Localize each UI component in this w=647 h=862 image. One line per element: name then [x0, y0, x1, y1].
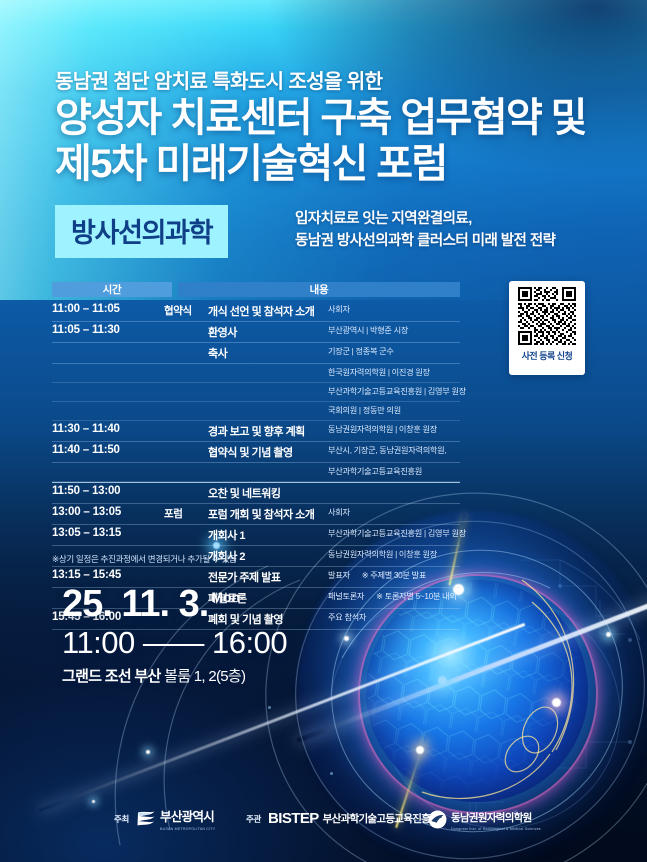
schedule-row: 11:40 – 11:50협약식 및 기념 촬영부산시, 기장군, 동남권원자력… [52, 442, 460, 463]
organizer-label: 주관 [246, 813, 261, 825]
schedule-cell-detail [328, 484, 460, 486]
schedule-cell-time [52, 384, 164, 385]
schedule-header-row: 시간 내용 [52, 282, 460, 297]
subtitle-line-2: 동남권 방사선의과학 클러스터 미래 발전 전략 [295, 230, 555, 252]
event-day-of-week: Mon [211, 589, 240, 605]
schedule-cell-detail: 사회자 [328, 302, 460, 316]
kicker-text: 동남권 첨단 암치료 특화도시 조성을 위한 [55, 65, 382, 94]
schedule-cell-detail: 부산과학기술고등교육진흥원 | 김영부 원장 [328, 384, 466, 398]
schedule-cell-category [164, 422, 208, 423]
schedule-cell-item: 포럼 개회 및 참석자 소개 [208, 505, 328, 522]
poster-root: 동남권 첨단 암치료 특화도시 조성을 위한 양성자 치료센터 구축 업무협약 … [0, 0, 647, 862]
title-line-2: 제5차 미래기술혁신 포럼 [55, 141, 586, 187]
footer-logos: 주최 부산광역시 BUSAN METROPOLITAN CITY 주관 BIST… [0, 800, 647, 842]
schedule-detail-text: 패널토론자 [328, 592, 364, 601]
schedule-row: 13:00 – 13:05포럼포럼 개회 및 참석자 소개사회자 [52, 504, 460, 525]
schedule-cell-category [164, 443, 208, 444]
qr-registration-card[interactable]: 사전 등록 신청 [509, 281, 585, 375]
schedule-cell-item [208, 384, 328, 385]
busan-city-logo-icon [136, 810, 156, 827]
host-name: 부산광역시 [160, 810, 214, 824]
schedule-cell-item: 환영사 [208, 323, 328, 340]
schedule-cell-item: 개회사 1 [208, 526, 328, 543]
event-venue: 그랜드 조선 부산 볼룸 1, 2(5층) [62, 665, 245, 686]
topic-badge: 방사선의과학 [55, 205, 228, 258]
schedule-detail-text: 부산과학기술고등교육진흥원 | 김영부 원장 [328, 387, 466, 396]
schedule-detail-text: 국회의원 | 정동만 의원 [328, 406, 401, 415]
particle-dot [268, 706, 271, 709]
event-time-range: 11:00 —— 16:00 [62, 625, 287, 661]
schedule-cell-detail: 발표자※ 주제별 30분 발표 [328, 568, 460, 582]
schedule-row: 부산과학기술고등교육진흥원 [52, 463, 460, 482]
schedule-cell-detail: 국회의원 | 정동만 의원 [328, 403, 460, 417]
schedule-cell-time: 13:05 – 13:15 [52, 526, 164, 539]
schedule-cell-category [164, 323, 208, 324]
schedule-cell-detail: 부산광역시 | 박형준 시장 [328, 323, 460, 337]
footer-partner: 동남권원자력의학원 Dongnam Inst. of Radiological … [428, 808, 541, 831]
schedule-detail-text: 사회자 [328, 508, 350, 517]
subtitle-row: 방사선의과학 입자치료로 잇는 지역완결의료, 동남권 방사선의과학 클러스터 … [55, 205, 595, 253]
schedule-cell-item [208, 464, 328, 465]
schedule-cell-detail: 부산과학기술고등교육진흥원 | 김영부 원장 [328, 526, 466, 540]
schedule-cell-time [52, 403, 164, 404]
schedule-cell-category [164, 384, 208, 385]
schedule-cell-detail: 패널토론자※ 토론자별 5~10분 내외 [328, 589, 460, 603]
schedule-cell-time: 13:00 – 13:05 [52, 505, 164, 518]
schedule-cell-detail: 주요 참석자 [328, 610, 460, 624]
qr-code-icon[interactable] [518, 287, 576, 345]
schedule-cell-category: 협약식 [164, 302, 208, 318]
schedule-detail-text: 동남권원자력의학원 | 이창훈 원장 [328, 425, 437, 434]
schedule-detail-text: 부산과학기술고등교육진흥원 | 김영부 원장 [328, 529, 466, 538]
footer-host: 주최 부산광역시 BUSAN METROPOLITAN CITY [114, 806, 215, 831]
schedule-row: 13:05 – 13:15개회사 1부산과학기술고등교육진흥원 | 김영부 원장 [52, 525, 460, 546]
schedule-cell-item: 오찬 및 네트워킹 [208, 484, 328, 501]
schedule-cell-time [52, 365, 164, 366]
subtitle-line-1: 입자치료로 잇는 지역완결의료, [295, 208, 555, 230]
bistep-logo-text: BISTEP [268, 810, 319, 827]
schedule-detail-text: 부산과학기술고등교육진흥원 [328, 467, 422, 476]
schedule-row: 한국원자력의학원 | 이진경 원장 [52, 364, 460, 383]
schedule-header-content: 내용 [178, 282, 460, 297]
schedule-detail-text: 기장군 | 정종복 군수 [328, 347, 394, 356]
schedule-detail-text: 발표자 [328, 571, 350, 580]
schedule-cell-item: 축사 [208, 344, 328, 361]
footer-organizer: 주관 BISTEP 부산과학기술고등교육진흥원 [246, 810, 439, 827]
schedule-cell-category [164, 403, 208, 404]
schedule-row: 축사기장군 | 정종복 군수 [52, 343, 460, 364]
schedule-footnote: ※상기 일정은 추진과정에서 변경되거나 추가될 수 있음 [52, 553, 237, 565]
qr-caption: 사전 등록 신청 [522, 349, 573, 362]
dirams-logo-icon [428, 810, 447, 829]
schedule-cell-time: 11:00 – 11:05 [52, 302, 164, 315]
schedule-cell-category [164, 464, 208, 465]
schedule-cell-time: 11:50 – 13:00 [52, 484, 164, 497]
schedule-cell-time [52, 547, 164, 548]
schedule-header-time: 시간 [52, 282, 172, 297]
schedule-cell-category [164, 365, 208, 366]
host-name-en: BUSAN METROPOLITAN CITY [160, 827, 215, 831]
schedule-cell-category [164, 568, 208, 569]
schedule-cell-item: 협약식 및 기념 촬영 [208, 443, 328, 460]
schedule-cell-item [208, 403, 328, 404]
schedule-row: 11:50 – 13:00오찬 및 네트워킹 [52, 482, 460, 504]
schedule-cell-time: 11:30 – 11:40 [52, 422, 164, 435]
schedule-cell-time [52, 464, 164, 465]
schedule-detail-text: 사회자 [328, 305, 350, 314]
schedule-detail-text: 동남권원자력의학원 | 이창훈 원장 [328, 550, 437, 559]
partner-name-en: Dongnam Inst. of Radiological & Medical … [451, 827, 541, 831]
title-line-1: 양성자 치료센터 구축 업무협약 및 [55, 95, 586, 141]
schedule-cell-category [164, 344, 208, 345]
schedule-detail-note: ※ 토론자별 5~10분 내외 [376, 592, 456, 601]
schedule-cell-category [164, 526, 208, 527]
schedule-cell-category [164, 484, 208, 485]
venue-sub: 볼룸 1, 2(5층) [164, 668, 245, 685]
partner-name: 동남권원자력의학원 [451, 812, 532, 824]
schedule-row: 11:05 – 11:30환영사부산광역시 | 박형준 시장 [52, 322, 460, 343]
schedule-cell-detail: 기장군 | 정종복 군수 [328, 344, 460, 358]
schedule-cell-detail: 한국원자력의학원 | 이진경 원장 [328, 365, 460, 379]
schedule-cell-time [52, 344, 164, 345]
organizer-name: 부산과학기술고등교육진흥원 [323, 811, 439, 826]
particle-dot [606, 632, 611, 637]
schedule-table: 시간 내용 11:00 – 11:05협약식개식 선언 및 참석자 소개사회자1… [52, 282, 460, 630]
schedule-cell-detail: 동남권원자력의학원 | 이창훈 원장 [328, 547, 460, 561]
schedule-detail-text: 주요 참석자 [328, 613, 366, 622]
event-date: 25. 11. 3.Mon [62, 583, 240, 626]
particle-dot [330, 772, 333, 775]
schedule-cell-detail: 부산과학기술고등교육진흥원 [328, 464, 460, 478]
particle-dot [146, 750, 150, 754]
event-date-value: 25. 11. 3. [62, 583, 208, 625]
schedule-row: 11:30 – 11:40경과 보고 및 향후 계획동남권원자력의학원 | 이창… [52, 421, 460, 442]
schedule-row: 부산과학기술고등교육진흥원 | 김영부 원장 [52, 383, 460, 402]
schedule-cell-detail: 사회자 [328, 505, 460, 519]
schedule-cell-detail: 부산시, 기장군, 동남권원자력의학원, [328, 443, 460, 457]
schedule-row: 국회의원 | 정동만 의원 [52, 402, 460, 421]
schedule-detail-text: 한국원자력의학원 | 이진경 원장 [328, 368, 430, 377]
schedule-cell-time: 11:05 – 11:30 [52, 323, 164, 336]
schedule-detail-text: 부산시, 기장군, 동남권원자력의학원, [328, 446, 446, 455]
schedule-detail-note: ※ 주제별 30분 발표 [362, 571, 426, 580]
schedule-detail-text: 부산광역시 | 박형준 시장 [328, 326, 408, 335]
venue-main: 그랜드 조선 부산 [62, 668, 161, 685]
schedule-cell-item: 개식 선언 및 참석자 소개 [208, 302, 328, 319]
host-label: 주최 [114, 813, 129, 825]
schedule-cell-detail: 동남권원자력의학원 | 이창훈 원장 [328, 422, 460, 436]
schedule-cell-category: 포럼 [164, 505, 208, 521]
schedule-cell-category [164, 547, 208, 548]
schedule-cell-time: 11:40 – 11:50 [52, 443, 164, 456]
subtitle-text: 입자치료로 잇는 지역완결의료, 동남권 방사선의과학 클러스터 미래 발전 전… [295, 208, 555, 252]
schedule-cell-item: 경과 보고 및 향후 계획 [208, 422, 328, 439]
page-title: 양성자 치료센터 구축 업무협약 및 제5차 미래기술혁신 포럼 [55, 95, 586, 187]
schedule-cell-time: 13:15 – 15:45 [52, 568, 164, 581]
schedule-cell-item [208, 365, 328, 366]
schedule-row: 11:00 – 11:05협약식개식 선언 및 참석자 소개사회자 [52, 301, 460, 322]
